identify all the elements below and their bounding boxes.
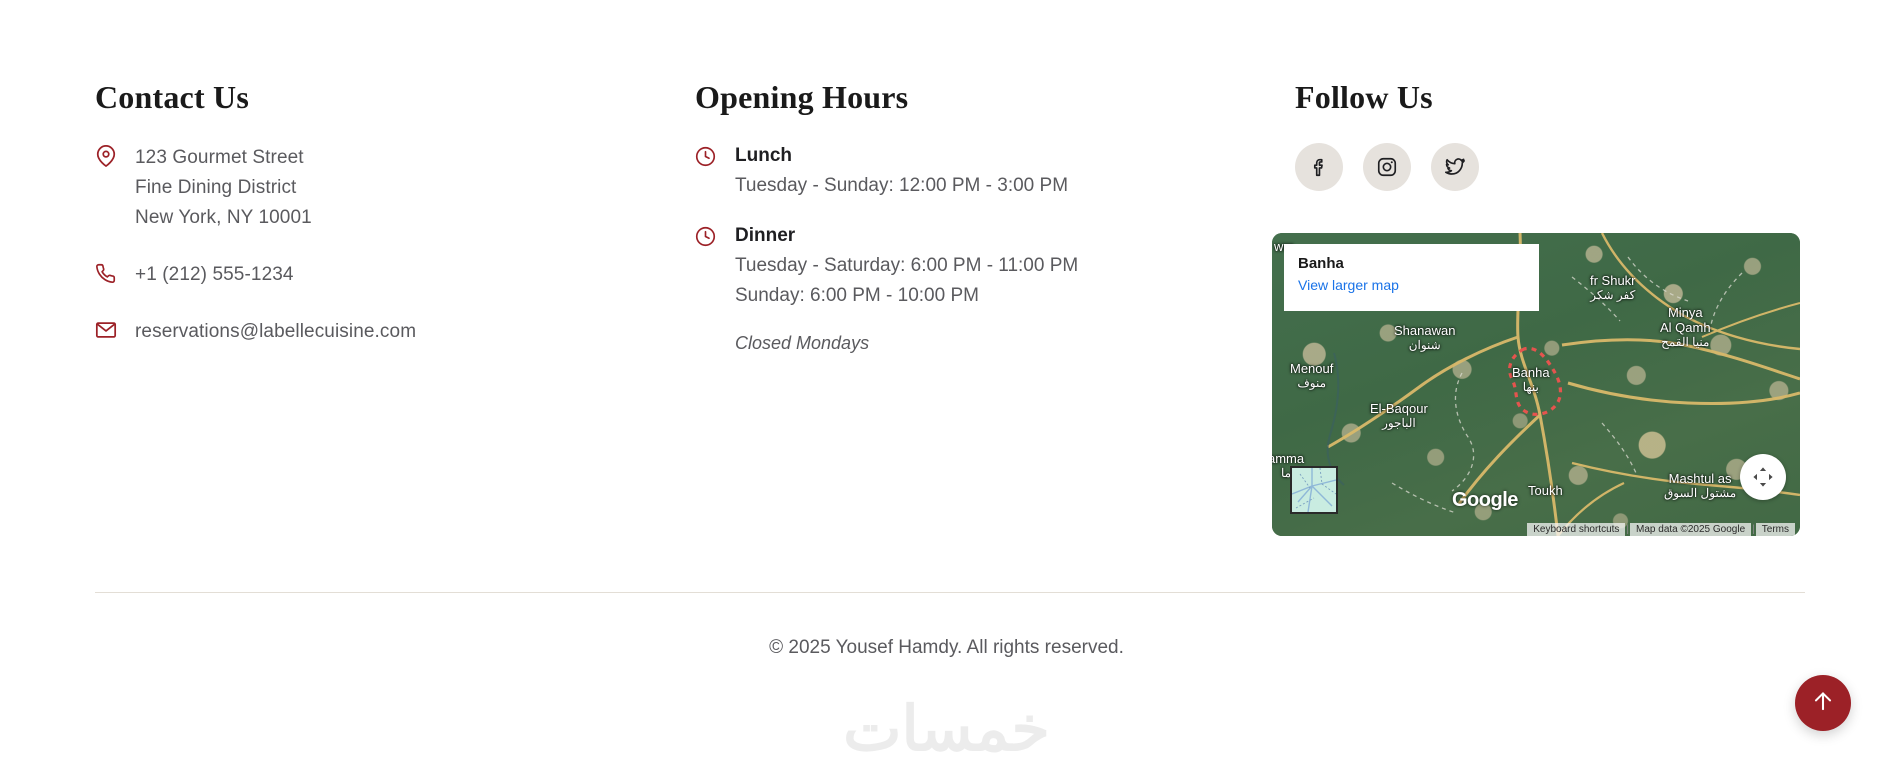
hours-dinner-label: Dinner	[735, 223, 1078, 249]
email-text: reservations@labellecuisine.com	[135, 317, 416, 347]
social-link-facebook[interactable]	[1295, 143, 1343, 191]
opening-hours-column: Opening Hours Lunch Tuesday - Sunday: 12…	[695, 80, 1295, 354]
khamsat-watermark: خمسات	[0, 690, 1893, 770]
copyright-text: © 2025 Yousef Hamdy. All rights reserved…	[0, 637, 1893, 659]
phone-text: +1 (212) 555-1234	[135, 260, 294, 290]
map-label-el-baqour: El-Baqourالباجور	[1370, 401, 1428, 431]
map-label-kafr-shukr: fr Shukrكفر شكر	[1590, 273, 1636, 303]
hours-block-lunch: Lunch Tuesday - Sunday: 12:00 PM - 3:00 …	[695, 143, 1295, 201]
map-label-toukh: Toukh	[1528, 483, 1563, 498]
social-links-row	[1295, 143, 1805, 191]
footer-divider	[95, 592, 1805, 593]
opening-hours-heading: Opening Hours	[695, 80, 1295, 115]
closed-mondays-note: Closed Mondays	[735, 333, 1295, 354]
hours-dinner-line-2: Sunday: 6:00 PM - 10:00 PM	[735, 281, 1078, 311]
map-label-shanawan: Shanawanشنوان	[1394, 323, 1455, 353]
social-link-twitter[interactable]	[1431, 143, 1479, 191]
map-minimap-inset[interactable]	[1290, 466, 1338, 514]
follow-us-heading: Follow Us	[1295, 80, 1805, 115]
view-larger-map-link[interactable]: View larger map	[1298, 275, 1525, 295]
map-label-menouf: Menoufمنوف	[1290, 361, 1333, 391]
pan-arrows-icon[interactable]	[1740, 454, 1786, 500]
google-logo: Google	[1452, 489, 1518, 512]
address-text: 123 Gourmet Street Fine Dining District …	[135, 143, 312, 233]
contact-column: Contact Us 123 Gourmet Street Fine Dinin…	[95, 80, 695, 354]
map-attribution-bar: Keyboard shortcuts | Map data ©2025 Goog…	[1272, 522, 1800, 536]
contact-heading: Contact Us	[95, 80, 695, 115]
map-label-mashtul-as-suq: Mashtul asمشتول السوق	[1664, 471, 1736, 501]
arrow-up-icon	[1810, 688, 1836, 719]
map-place-name: Banha	[1298, 254, 1525, 274]
phone-number: +1 (212) 555-1234	[135, 260, 294, 290]
map-label-banha: Banhaبنها	[1512, 365, 1550, 395]
social-link-instagram[interactable]	[1363, 143, 1411, 191]
map-place-card: Banha View larger map	[1284, 244, 1539, 311]
hours-block-dinner: Dinner Tuesday - Saturday: 6:00 PM - 11:…	[695, 223, 1295, 311]
address-line-3: New York, NY 10001	[135, 203, 312, 233]
hours-lunch-label: Lunch	[735, 143, 1068, 169]
contact-address-row: 123 Gourmet Street Fine Dining District …	[95, 143, 695, 233]
scroll-to-top-button[interactable]	[1795, 675, 1851, 731]
map-data-credit: Map data ©2025 Google	[1630, 523, 1751, 536]
map-label-minya-al-qamh: Minya Al Qamh منيا القمح	[1660, 305, 1711, 350]
contact-phone-row[interactable]: +1 (212) 555-1234	[95, 260, 695, 290]
hours-lunch-line-1: Tuesday - Sunday: 12:00 PM - 3:00 PM	[735, 171, 1068, 201]
contact-email-row[interactable]: reservations@labellecuisine.com	[95, 317, 695, 347]
clock-icon	[695, 223, 721, 247]
terms-link[interactable]: Terms	[1756, 523, 1795, 536]
phone-icon	[95, 260, 121, 284]
google-map-embed[interactable]: wm Shanawanشنوان Menoufمنوف El-Baqourالب…	[1272, 233, 1800, 536]
hours-dinner-body: Dinner Tuesday - Saturday: 6:00 PM - 11:…	[735, 223, 1078, 311]
map-pin-icon	[95, 143, 121, 167]
facebook-icon	[1308, 156, 1330, 178]
instagram-icon	[1376, 156, 1398, 178]
hours-lunch-body: Lunch Tuesday - Sunday: 12:00 PM - 3:00 …	[735, 143, 1068, 201]
address-line-1: 123 Gourmet Street	[135, 143, 312, 173]
keyboard-shortcuts-button[interactable]: Keyboard shortcuts	[1527, 523, 1625, 536]
envelope-icon	[95, 317, 121, 341]
twitter-icon	[1444, 156, 1466, 178]
email-address: reservations@labellecuisine.com	[135, 317, 416, 347]
clock-icon	[695, 143, 721, 167]
hours-dinner-line-1: Tuesday - Saturday: 6:00 PM - 11:00 PM	[735, 251, 1078, 281]
address-line-2: Fine Dining District	[135, 173, 312, 203]
site-footer: Contact Us 123 Gourmet Street Fine Dinin…	[0, 0, 1893, 763]
